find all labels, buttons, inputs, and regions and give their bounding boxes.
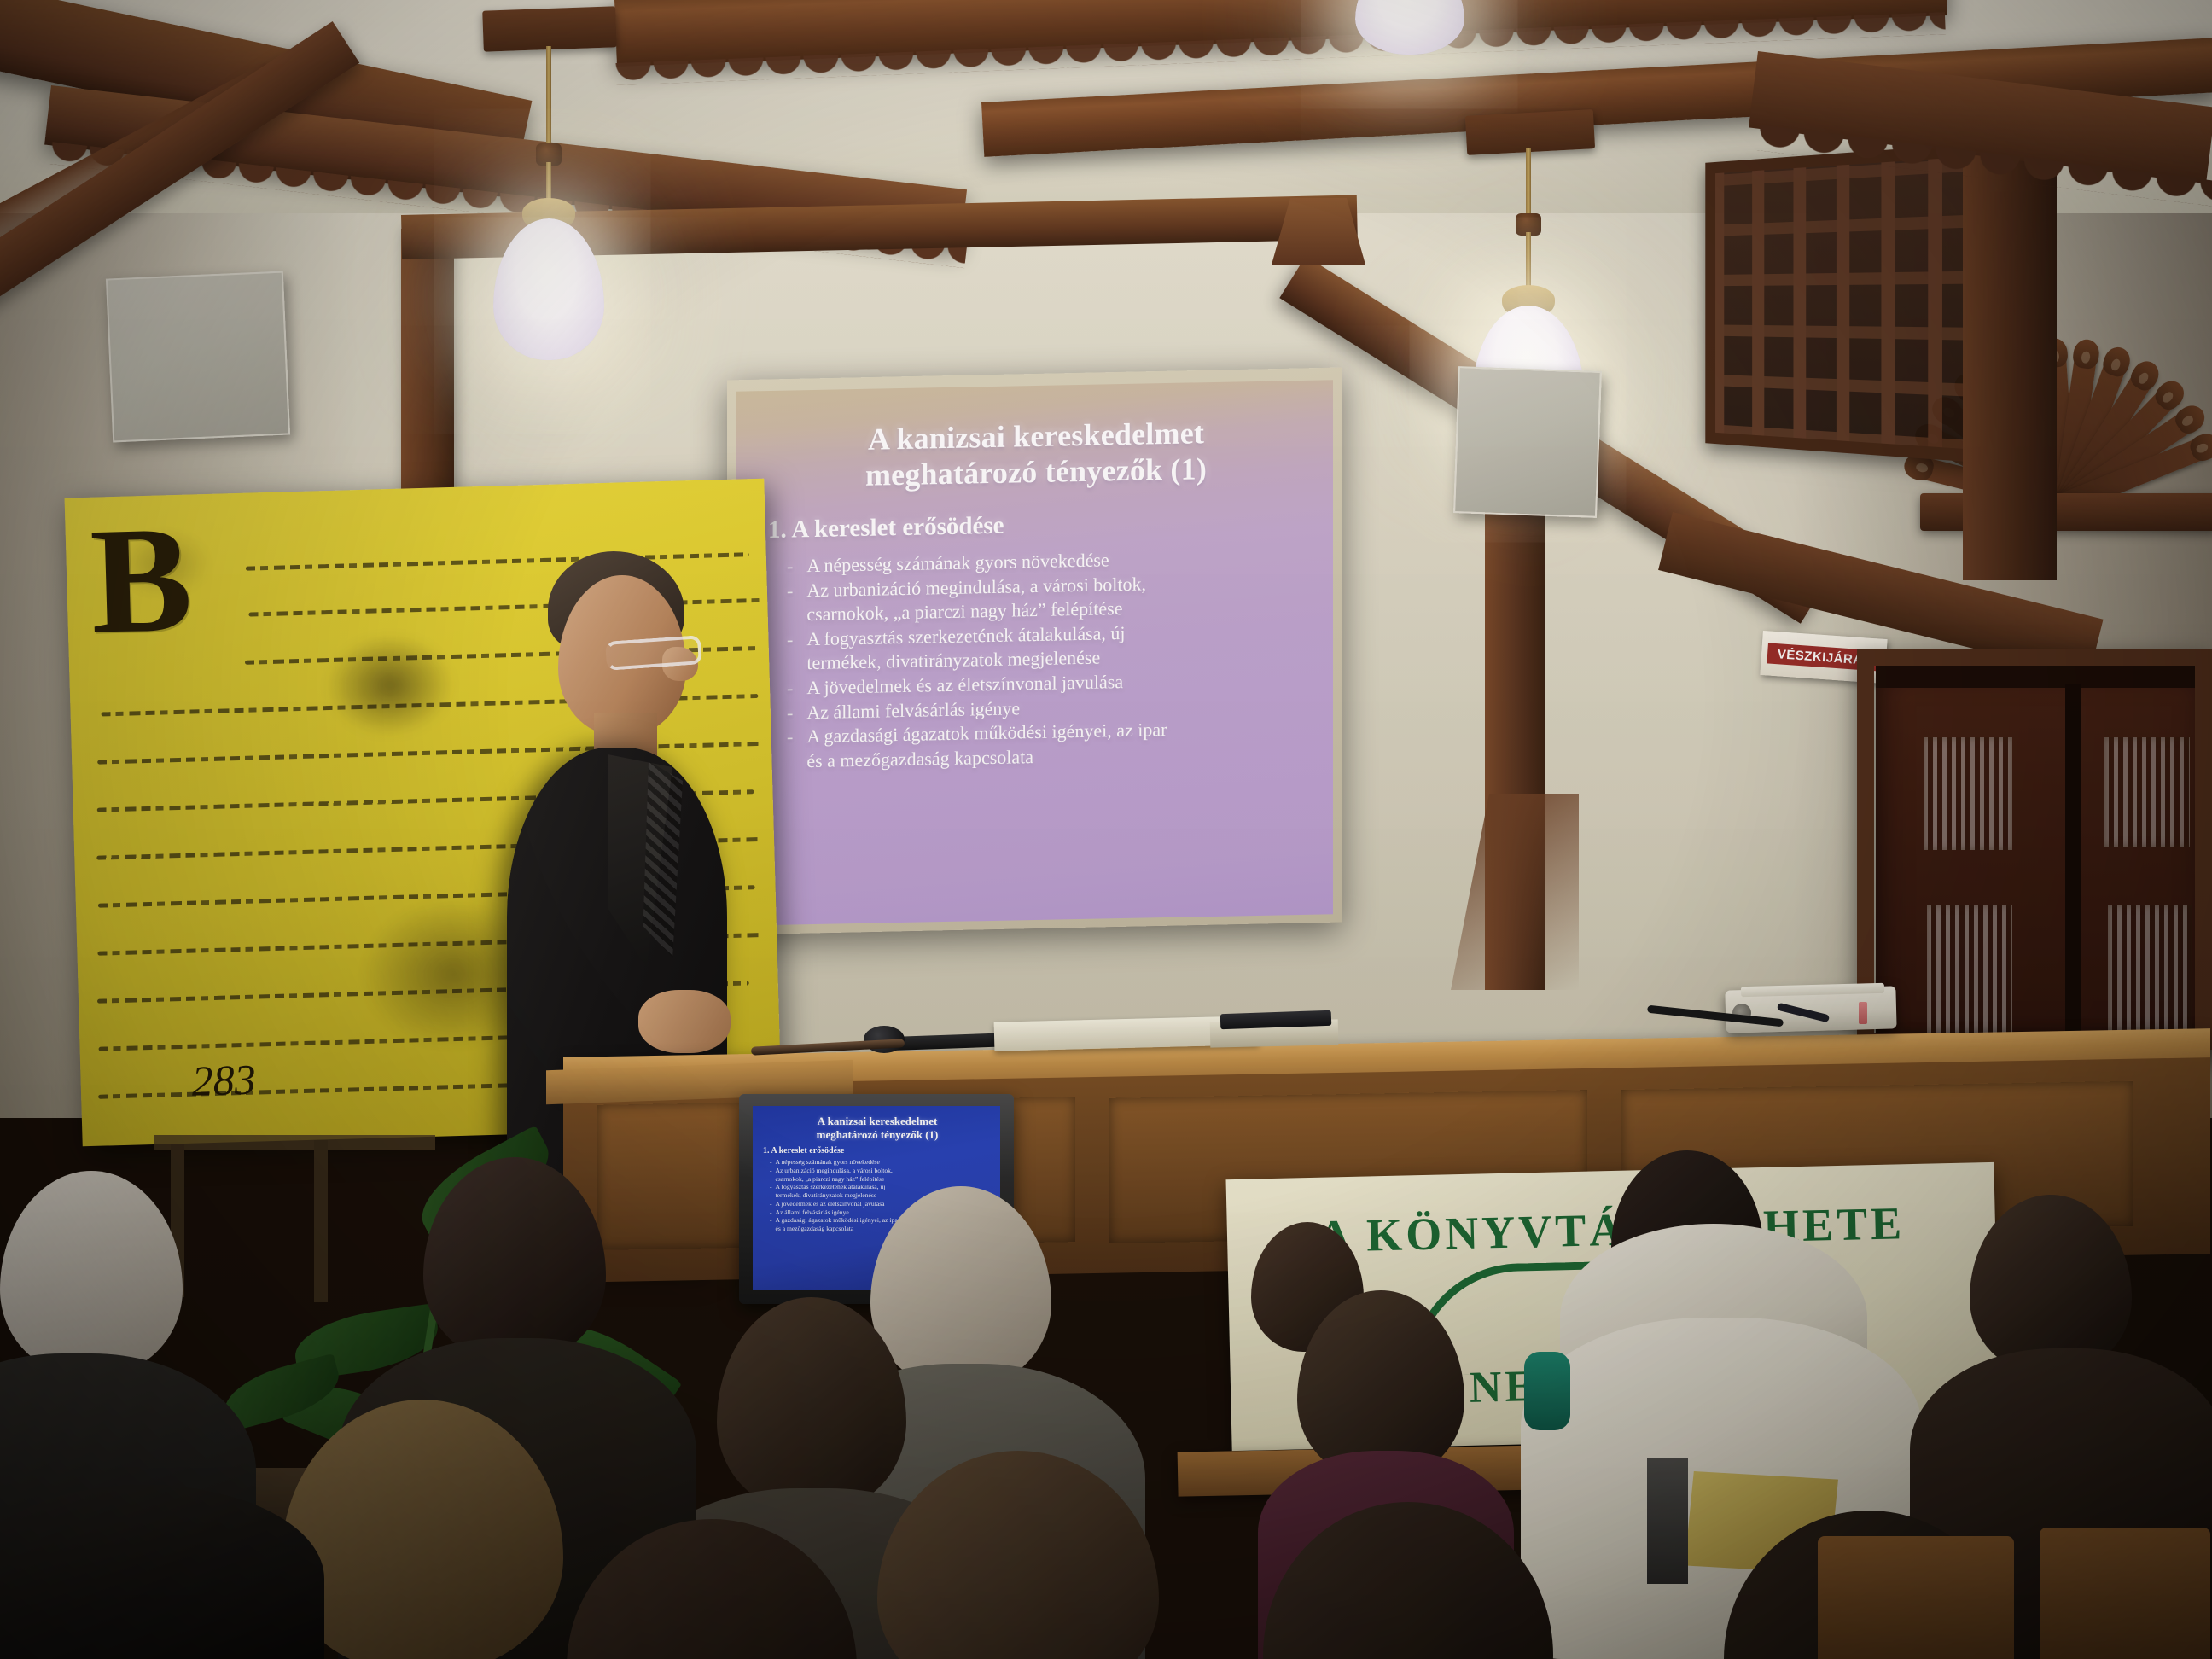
audience-head: [1970, 1195, 2132, 1374]
charter-initial-B: B: [89, 516, 194, 643]
lattice-frame: [1705, 143, 1982, 463]
pendant-lamp-right-cord2: [1526, 232, 1531, 288]
wall-speaker-right: [1453, 366, 1602, 518]
hoodie-sleeve-green-stripe: [1524, 1352, 1570, 1430]
monitor-bullet: -csarnokok, „a piarczi nagy ház” felépít…: [770, 1175, 993, 1184]
bullet-text-cont: csarnokok, „a piarczi nagy ház” felépíté…: [806, 597, 1122, 625]
bullet-text-cont: és a mezőgazdaság kapcsolata: [806, 746, 1033, 771]
poster-support-rail: [154, 1135, 435, 1150]
slide-title: A kanizsai kereskedelmet meghatározó tén…: [761, 413, 1311, 496]
presenter-hands: [638, 990, 731, 1053]
audience-head: [877, 1451, 1159, 1659]
audience-member: [423, 1157, 606, 1362]
audience-head: [0, 1171, 183, 1376]
monitor-bullet: -A népesség számának gyors növekedése: [770, 1158, 993, 1167]
chair-back: [1818, 1536, 2014, 1659]
bullet-text: A fogyasztás szerkezetének átalakulása, …: [806, 622, 1125, 649]
pendant-lamp-left-cord2: [546, 162, 551, 203]
monitor-bullet: -Az urbanizáció megindulása, a városi bo…: [770, 1167, 993, 1175]
monitor-title-line2: meghatározó tényezők (1): [761, 1128, 993, 1142]
audience-head: [423, 1157, 606, 1362]
monitor-heading: 1. A kereslet erősödése: [763, 1146, 993, 1155]
audience-member: [0, 1171, 183, 1376]
audience-member: [877, 1451, 1159, 1659]
slide-bullet-list: - A népesség számának gyors növekedése -…: [787, 544, 1311, 774]
bullet-dash: -: [787, 554, 793, 579]
bullet-dash: -: [787, 627, 793, 652]
slide-bullet: - A gazdasági ágazatok működési igényei,…: [787, 715, 1311, 774]
hoodie-graphic-bar: [1647, 1458, 1688, 1584]
audience-member: [1297, 1290, 1464, 1480]
chair-back: [2040, 1528, 2210, 1659]
lecture-hall-photo: VÉSZKIJÁRAT A kanizsai kereskedelmet meg…: [0, 0, 2212, 1659]
bullet-dash: -: [787, 676, 793, 701]
audience-member: [1970, 1195, 2132, 1374]
pendant-lamp-left-mount: [482, 6, 617, 51]
pendant-lamp-right-cord: [1526, 148, 1531, 217]
bullet-text: Az urbanizáció megindulása, a városi bol…: [806, 573, 1146, 601]
audience-head: [567, 1519, 857, 1659]
bullet-dash: -: [787, 579, 793, 603]
slide-content: A kanizsai kereskedelmet meghatározó tén…: [736, 380, 1333, 925]
bullet-text-cont: termékek, divatirányzatok megjelenése: [806, 647, 1100, 674]
bullet-dash: -: [787, 725, 793, 750]
slide-heading: 1. A kereslet erősödése: [768, 506, 1311, 544]
pendant-lamp-left-cord: [546, 46, 551, 145]
door-frame: [1857, 649, 2212, 1050]
charter-catalog-number: 283: [191, 1055, 257, 1106]
audience-member: [1263, 1502, 1553, 1659]
wall-speaker-left: [106, 271, 290, 443]
audience-member: [567, 1519, 857, 1659]
projector-accent-strip: [1859, 1002, 1867, 1024]
monitor-slide-title: A kanizsai kereskedelmet meghatározó tén…: [761, 1115, 993, 1141]
bullet-dash: -: [787, 701, 793, 725]
audience-head: [1263, 1502, 1553, 1659]
monitor-title-line1: A kanizsai kereskedelmet: [761, 1115, 993, 1128]
bullet-text: A gazdasági ágazatok működési igényei, a…: [806, 719, 1167, 747]
